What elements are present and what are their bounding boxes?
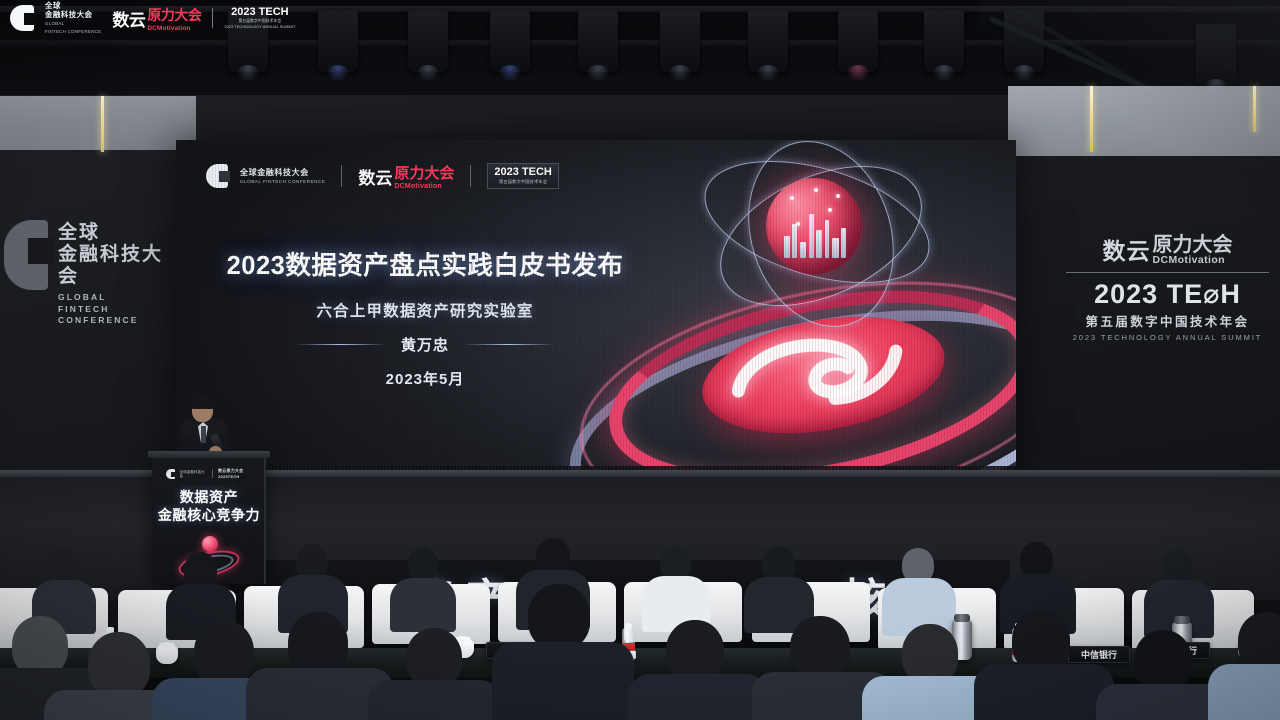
slide-text-block: 2023数据资产盘点实践白皮书发布 六合上甲数据资产研究实验室 黄万忠 2023…: [210, 245, 640, 389]
slide-subtitle: 六合上甲数据资产研究实验室: [210, 299, 640, 321]
teacup: [156, 646, 178, 664]
main-led-screen: 全球金融科技大会 GLOBAL FINTECH CONFERENCE 数云 原力…: [176, 140, 1016, 480]
wall-right-cn-sub: 第五届数字中国技术年会: [1060, 311, 1275, 330]
watermark-dc-cn: 数云: [112, 6, 145, 31]
table-namecard: 中信银行: [1068, 646, 1130, 663]
wall-sign-dcmotivation: 数云 原力大会 DCMotivation 2023 TE⌀H 第五届数字中国技术…: [1060, 228, 1275, 340]
wall-left-cn-line1: 全球: [58, 222, 178, 244]
watermark-tech-sub1: 第五届数字中国技术年会: [224, 19, 295, 24]
podium-logo-cn: 全球金融科技大会: [180, 470, 208, 478]
wall-sign-global-fintech-conference: 全球 金融科技大会 GLOBAL FINTECH CONFERENCE: [0, 216, 178, 336]
sphere-highlight-dots: [766, 178, 862, 274]
stage-light-fixture: [924, 10, 964, 72]
divider: [295, 344, 387, 346]
gfc-logo-icon: [166, 469, 175, 479]
divider: [341, 165, 342, 187]
watermark-gfc-cn2: 金融科技大会: [45, 10, 101, 19]
podium-logo-right: 数云原力大会 2023TECH: [218, 468, 264, 479]
slide-dc-en: DCMotivation: [394, 183, 442, 190]
wall-light-strip: [1090, 86, 1093, 152]
divider: [1066, 272, 1269, 273]
audience-area: 中国进出口银行 中信银行 中信银行: [0, 520, 1280, 720]
wall-left-en-line1: GLOBAL: [58, 292, 178, 303]
slide-date: 2023年5月: [210, 368, 640, 389]
podium-top-surface: [148, 451, 270, 458]
wall-right-brand-cn: 数云: [1103, 232, 1151, 266]
slide-title: 2023数据资产盘点实践白皮书发布: [210, 245, 640, 282]
wall-light-strip: [1253, 86, 1256, 132]
watermark-gfc-cn1: 全球: [45, 1, 101, 10]
stage-light-fixture: [318, 10, 358, 72]
divider: [463, 344, 555, 346]
upper-wall-panel-left: [0, 96, 196, 150]
conference-stage-photo: 全球 金融科技大会 GLOBAL FINTECH CONFERENCE 数云 原…: [0, 0, 1280, 720]
gfc-logo-icon: [4, 220, 48, 290]
slide-logo-bar: 全球金融科技大会 GLOBAL FINTECH CONFERENCE 数云 原力…: [206, 162, 559, 190]
wall-right-brand-en: DCMotivation: [1153, 254, 1227, 266]
watermark-gfc-en1: GLOBAL: [45, 21, 101, 27]
watermark-tech-sub2: 2023 TECHNOLOGY ANNUAL SUMMIT: [224, 25, 295, 30]
wall-right-en-sub: 2023 TECHNOLOGY ANNUAL SUMMIT: [1060, 333, 1275, 342]
stage-light-fixture: [490, 10, 530, 72]
slide-dc-event: 原力大会: [394, 162, 454, 183]
stage-light-fixture: [838, 10, 878, 72]
podium-logo-bar: 全球金融科技大会 数云原力大会 2023TECH: [166, 468, 264, 479]
slide-tech-badge-title: 2023 TECH: [494, 167, 551, 178]
gfc-logo-icon: [206, 164, 228, 188]
orbiting-sphere-spiral-graphic: [606, 170, 1016, 480]
divider: [212, 8, 213, 28]
watermark-dc-en: DCMotivation: [147, 25, 190, 32]
slide-presenter: 黄万忠: [401, 334, 449, 355]
watermark-gfc-en2: FINTECH CONFERENCE: [45, 29, 101, 35]
divider: [212, 469, 213, 478]
stage-light-fixture: [578, 10, 618, 72]
wall-left-cn-line2: 金融科技大会: [58, 244, 178, 288]
divider: [470, 165, 471, 187]
slide-gfc-en: GLOBAL FINTECH CONFERENCE: [240, 179, 325, 185]
slide-dc-cn: 数云: [358, 164, 392, 189]
podium-headline-line1: 数据资产: [152, 488, 266, 506]
gfc-logo-icon: [10, 5, 34, 31]
slide-tech-badge-sub: 第五届数字中国技术年会: [494, 179, 551, 185]
wall-right-tech-line: 2023 TE⌀H: [1060, 280, 1275, 308]
broadcast-watermark: 全球 金融科技大会 GLOBAL FINTECH CONFERENCE 数云 原…: [10, 4, 295, 32]
stage-light-fixture: [748, 10, 788, 72]
wall-left-en-line2: FINTECH CONFERENCE: [58, 304, 178, 326]
watermark-tech-badge: 2023 TECH 第五届数字中国技术年会 2023 TECHNOLOGY AN…: [224, 6, 295, 30]
wall-light-strip: [101, 96, 104, 152]
slide-gfc-cn: 全球金融科技大会: [240, 168, 325, 177]
wall-right-event-cn: 原力大会: [1153, 228, 1233, 257]
upper-wall-panel-right: [1008, 86, 1280, 156]
stage-light-fixture: [408, 10, 448, 72]
slide-tech-badge: 2023 TECH 第五届数字中国技术年会: [487, 163, 558, 189]
globe-sphere-icon: [766, 178, 862, 274]
watermark-tech-title: 2023 TECH: [224, 6, 295, 18]
stage-light-fixture: [660, 10, 700, 72]
watermark-dc-event: 原力大会: [147, 5, 201, 25]
